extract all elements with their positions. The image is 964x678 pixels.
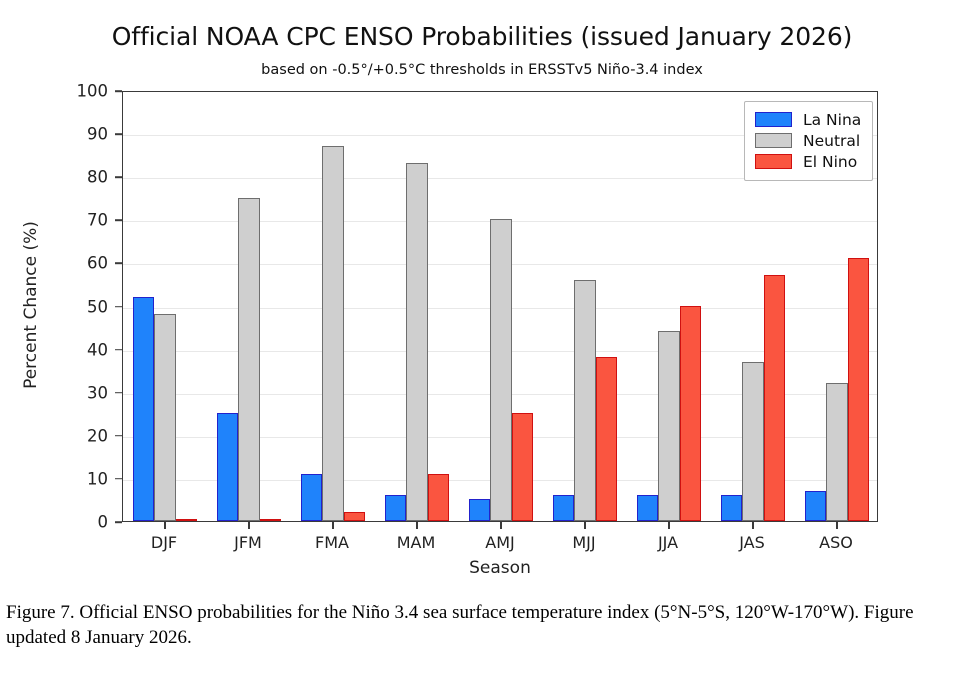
x-axis: DJFJFMFMAMAMAMJMJJJJAJASASO Season — [122, 522, 878, 582]
x-tick-mark — [164, 522, 166, 529]
legend-label: Neutral — [803, 132, 860, 150]
bar-amj-la-nina — [469, 499, 491, 521]
legend-swatch-icon — [755, 133, 792, 148]
legend-swatch-icon — [755, 154, 792, 169]
y-tick-label: 70 — [87, 211, 108, 230]
bar-jja-neutral — [658, 331, 680, 521]
y-tick-mark — [115, 521, 122, 523]
bar-jfm-el-nino — [260, 519, 282, 521]
bar-djf-la-nina — [133, 297, 155, 521]
x-axis-title: Season — [122, 558, 878, 578]
enso-probability-figure: Official NOAA CPC ENSO Probabilities (is… — [0, 0, 964, 678]
chart-subtitle: based on -0.5°/+0.5°C thresholds in ERSS… — [0, 62, 964, 78]
legend-swatch-icon — [755, 112, 792, 127]
bar-jas-neutral — [742, 362, 764, 521]
legend-item-la-nina[interactable]: La Nina — [755, 109, 861, 130]
x-tick-label-amj: AMJ — [485, 533, 514, 552]
bar-jas-el-nino — [764, 275, 786, 521]
y-tick-mark — [115, 392, 122, 394]
x-tick-mark — [752, 522, 754, 529]
bar-fma-el-nino — [344, 512, 366, 521]
x-tick-label-mjj: MJJ — [572, 533, 595, 552]
y-tick-mark — [115, 90, 122, 92]
x-tick-label-jas: JAS — [739, 533, 765, 552]
bar-jja-el-nino — [680, 306, 702, 522]
legend-item-el-nino[interactable]: El Nino — [755, 151, 861, 172]
bar-mam-el-nino — [428, 474, 450, 521]
y-tick-label: 30 — [87, 383, 108, 402]
x-tick-mark — [332, 522, 334, 529]
bar-jas-la-nina — [721, 495, 743, 521]
y-tick-mark — [115, 133, 122, 135]
bar-aso-neutral — [826, 383, 848, 521]
x-tick-mark — [584, 522, 586, 529]
y-tick-label: 80 — [87, 168, 108, 187]
y-tick-label: 10 — [87, 469, 108, 488]
bar-fma-la-nina — [301, 474, 323, 521]
bar-aso-la-nina — [805, 491, 827, 521]
y-axis: Percent Chance (%) 010203040506070809010… — [0, 91, 122, 522]
y-tick-mark — [115, 349, 122, 351]
bar-fma-neutral — [322, 146, 344, 521]
x-tick-label-jfm: JFM — [234, 533, 262, 552]
x-tick-label-mam: MAM — [397, 533, 436, 552]
bar-amj-el-nino — [512, 413, 534, 521]
legend-item-neutral[interactable]: Neutral — [755, 130, 861, 151]
legend-label: La Nina — [803, 111, 861, 129]
x-tick-mark — [668, 522, 670, 529]
y-tick-mark — [115, 306, 122, 308]
chart-legend: La NinaNeutralEl Nino — [744, 101, 873, 181]
y-tick-label: 20 — [87, 426, 108, 445]
bar-djf-neutral — [154, 314, 176, 521]
x-tick-label-jja: JJA — [658, 533, 678, 552]
x-tick-mark — [836, 522, 838, 529]
y-tick-label: 60 — [87, 254, 108, 273]
x-tick-label-fma: FMA — [315, 533, 349, 552]
x-tick-mark — [248, 522, 250, 529]
bar-jfm-neutral — [238, 198, 260, 521]
y-tick-mark — [115, 220, 122, 222]
bar-mam-neutral — [406, 163, 428, 521]
y-tick-label: 100 — [77, 82, 109, 101]
legend-label: El Nino — [803, 153, 857, 171]
bar-djf-el-nino — [176, 519, 198, 521]
bar-mjj-la-nina — [553, 495, 575, 521]
bar-aso-el-nino — [848, 258, 870, 521]
bar-amj-neutral — [490, 219, 512, 521]
bar-jja-la-nina — [637, 495, 659, 521]
y-tick-label: 0 — [98, 513, 109, 532]
bar-mam-la-nina — [385, 495, 407, 521]
figure-caption: Figure 7. Official ENSO probabilities fo… — [6, 600, 958, 650]
y-tick-mark — [115, 263, 122, 265]
bar-mjj-neutral — [574, 280, 596, 521]
chart-title: Official NOAA CPC ENSO Probabilities (is… — [0, 22, 964, 51]
y-tick-label: 50 — [87, 297, 108, 316]
bar-mjj-el-nino — [596, 357, 618, 521]
x-tick-mark — [416, 522, 418, 529]
y-axis-title: Percent Chance (%) — [21, 110, 41, 500]
bar-jfm-la-nina — [217, 413, 239, 521]
x-tick-mark — [500, 522, 502, 529]
x-tick-label-djf: DJF — [151, 533, 177, 552]
y-tick-mark — [115, 435, 122, 437]
y-tick-label: 40 — [87, 340, 108, 359]
y-tick-label: 90 — [87, 125, 108, 144]
y-tick-mark — [115, 478, 122, 480]
y-tick-mark — [115, 176, 122, 178]
x-tick-label-aso: ASO — [819, 533, 853, 552]
